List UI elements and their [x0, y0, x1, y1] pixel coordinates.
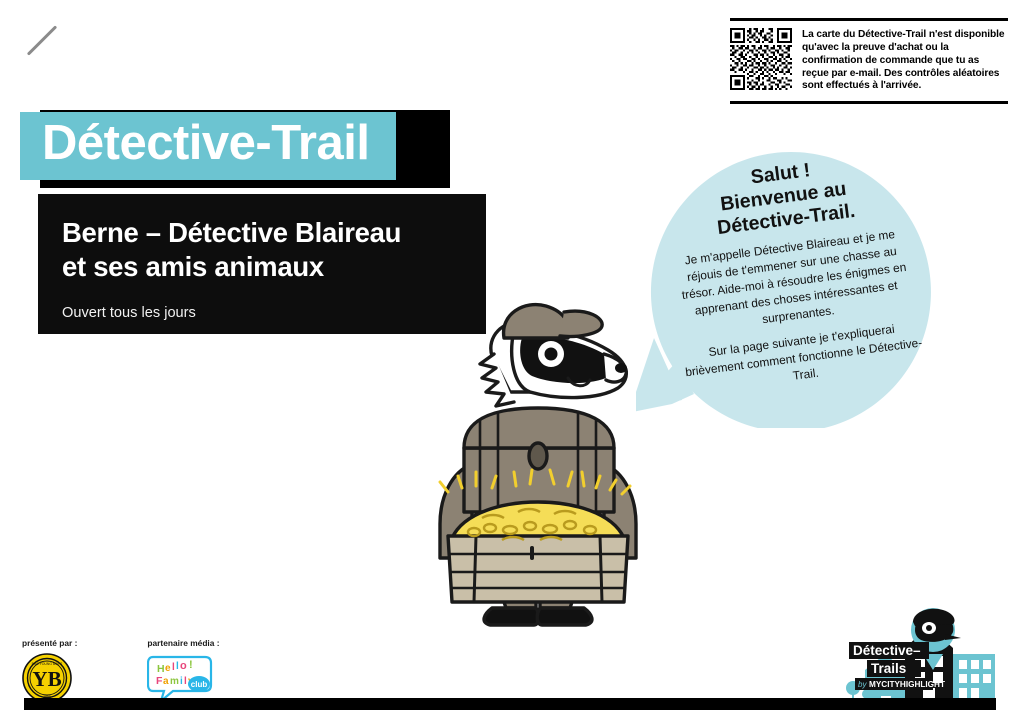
svg-text:F: F [156, 675, 163, 687]
title-banner: Détective-Trail [20, 112, 396, 180]
detective-trails-brand-logo: Détective– Trails by MYCITYHIGHLIGHT [845, 608, 1015, 706]
svg-text:l: l [176, 661, 179, 672]
svg-text:o: o [180, 660, 187, 672]
svg-text:m: m [170, 676, 179, 687]
svg-text:club: club [191, 680, 208, 689]
svg-text:l: l [184, 676, 187, 687]
svg-text:a: a [163, 676, 169, 687]
brand-by-name: MYCITYHIGHLIGHT [869, 680, 945, 689]
svg-text:YB: YB [32, 667, 61, 691]
qr-code-icon [730, 28, 792, 90]
speech-bubble: Salut ! Bienvenue au Détective-Trail. Je… [636, 148, 946, 428]
svg-text:l: l [172, 662, 175, 673]
brand-name-line1: Détective– [853, 643, 921, 658]
young-boys-crest-logo: YB BSC YOUNG BOYS 1898 [22, 653, 72, 703]
crop-slash-line [27, 25, 57, 55]
svg-text:!: ! [189, 659, 193, 671]
svg-text:H: H [157, 663, 165, 675]
bubble-body: Je m'appelle Détective Blaireau et je me… [669, 225, 927, 398]
speech-bubble-text: Salut ! Bienvenue au Détective-Trail. Je… [659, 148, 927, 398]
svg-text:BSC YOUNG BOYS: BSC YOUNG BOYS [32, 662, 63, 666]
crop-slash-mark [24, 24, 58, 58]
hello-family-club-logo: H e l l o ! F a m i l y club [147, 653, 213, 703]
qr-notice-text: La carte du Détective-Trail n'est dispon… [802, 28, 1008, 93]
qr-notice: La carte du Détective-Trail n'est dispon… [730, 18, 1008, 104]
page-title-line1: Berne – Détective Blaireau [62, 216, 462, 250]
svg-text:e: e [165, 663, 171, 674]
title-banner-text: Détective-Trail [42, 118, 370, 170]
badger-detective-illustration [418, 296, 658, 632]
page-title-line2: et ses amis animaux [62, 250, 462, 284]
brand-name-line2: Trails [871, 661, 906, 676]
brand-by-prefix: by [858, 680, 867, 689]
opening-hours: Ouvert tous les jours [62, 305, 462, 321]
ground-bar [24, 698, 996, 710]
poster-page: La carte du Détective-Trail n'est dispon… [0, 0, 1024, 724]
presented-by-label: présenté par : [22, 638, 77, 648]
media-partner-label: partenaire média : [147, 638, 219, 648]
svg-text:i: i [180, 676, 183, 687]
